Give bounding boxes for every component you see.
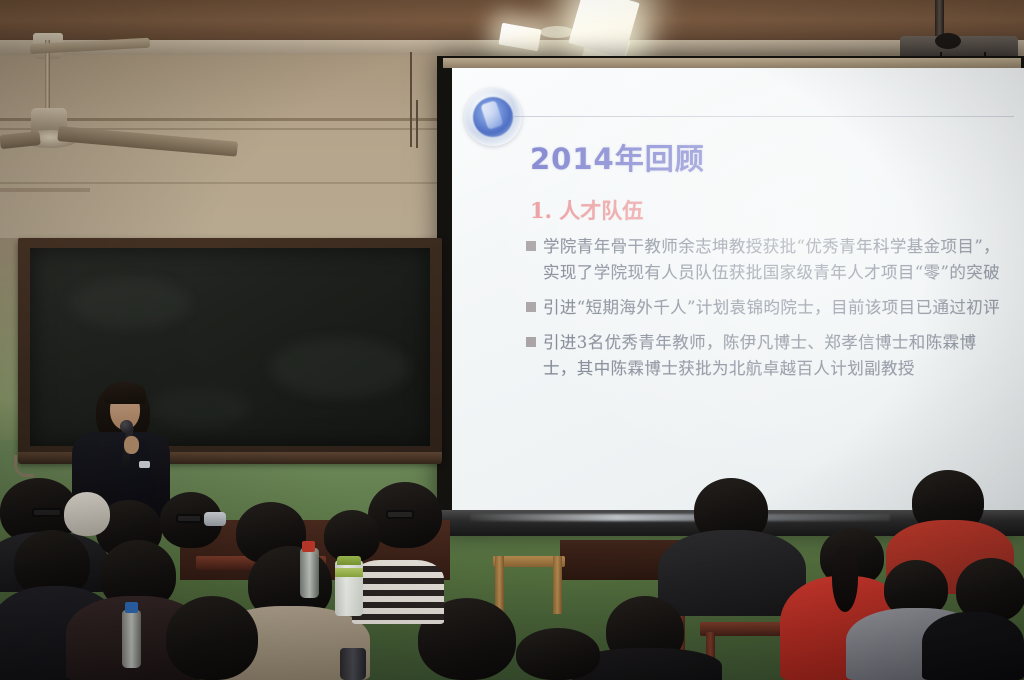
wristwatch	[139, 461, 150, 468]
water-bottle	[122, 610, 141, 668]
slide-title: 2014年回顾	[530, 136, 705, 178]
desk-item	[204, 512, 226, 526]
bullet-marker-icon	[526, 241, 536, 251]
chalk-smudge	[150, 388, 250, 428]
hanging-cable	[410, 52, 412, 147]
bottle-cap	[302, 541, 315, 552]
bullet-marker-icon	[526, 337, 536, 347]
eyeglasses	[176, 514, 202, 523]
audience-shoulders	[658, 530, 806, 616]
blackboard	[30, 248, 430, 446]
microphone-head	[120, 420, 133, 433]
bullet-marker-icon	[526, 302, 536, 312]
slide-divider-rule	[514, 116, 1014, 117]
slide-section-heading: 1. 人才队伍	[530, 195, 643, 225]
slide-bullet-list: 学院青年骨干教师余志坤教授获批“优秀青年科学基金项目”，实现了学院现有人员队伍获…	[526, 234, 1006, 391]
wall-hook	[14, 455, 34, 477]
wooden-chair	[493, 556, 565, 614]
slide-bullet-item: 引进“短期海外千人”计划袁锦昀院士，目前该项目已通过初评	[526, 295, 1006, 321]
chalk-smudge	[70, 278, 190, 328]
audience-head	[324, 510, 380, 562]
audience-head	[166, 596, 258, 680]
bottle-cap	[125, 602, 138, 613]
chalk-smudge	[270, 338, 410, 398]
presentation-slide: 2014年回顾 1. 人才队伍 学院青年骨干教师余志坤教授获批“优秀青年科学基金…	[452, 68, 1024, 510]
thermos-band	[335, 568, 363, 577]
eyeglasses	[386, 510, 414, 519]
screen-bottom-reflection	[470, 514, 890, 521]
thermos-lid	[337, 556, 361, 565]
bullet-text: 学院青年骨干教师余志坤教授获批“优秀青年科学基金项目”，实现了学院现有人员队伍获…	[543, 234, 1006, 286]
bullet-text: 引进3名优秀青年教师，陈伊凡博士、郑孝信博士和陈霖博士，其中陈霖博士获批为北航卓…	[543, 330, 1006, 382]
audience-shoulders	[922, 612, 1024, 680]
slide-bullet-item: 引进3名优秀青年教师，陈伊凡博士、郑孝信博士和陈霖博士，其中陈霖博士获批为北航卓…	[526, 330, 1006, 382]
water-bottle	[300, 548, 319, 598]
audience-head-light	[64, 492, 110, 536]
presenter-hair-front	[104, 382, 146, 404]
slide-bullet-item: 学院青年骨干教师余志坤教授获批“优秀青年科学基金项目”，实现了学院现有人员队伍获…	[526, 234, 1006, 286]
projector-bracket-knob	[935, 33, 961, 49]
hanging-cable-2	[416, 100, 418, 148]
audience-head	[516, 628, 600, 680]
presenter-hand	[124, 436, 139, 454]
screen-top-edge	[443, 58, 1021, 68]
dark-bottle	[340, 648, 366, 680]
wall-mark	[0, 188, 90, 192]
lecture-hall-photo: 2014年回顾 1. 人才队伍 学院青年骨干教师余志坤教授获批“优秀青年科学基金…	[0, 0, 1024, 680]
chair-post-right	[553, 556, 562, 614]
wall-seam-3	[0, 182, 440, 184]
bullet-text: 引进“短期海外千人”计划袁锦昀院士，目前该项目已通过初评	[543, 295, 1000, 321]
institution-logo-icon	[464, 88, 522, 146]
audience-striped-sweater	[352, 560, 444, 624]
ponytail	[832, 546, 858, 612]
eyeglasses	[32, 508, 62, 517]
